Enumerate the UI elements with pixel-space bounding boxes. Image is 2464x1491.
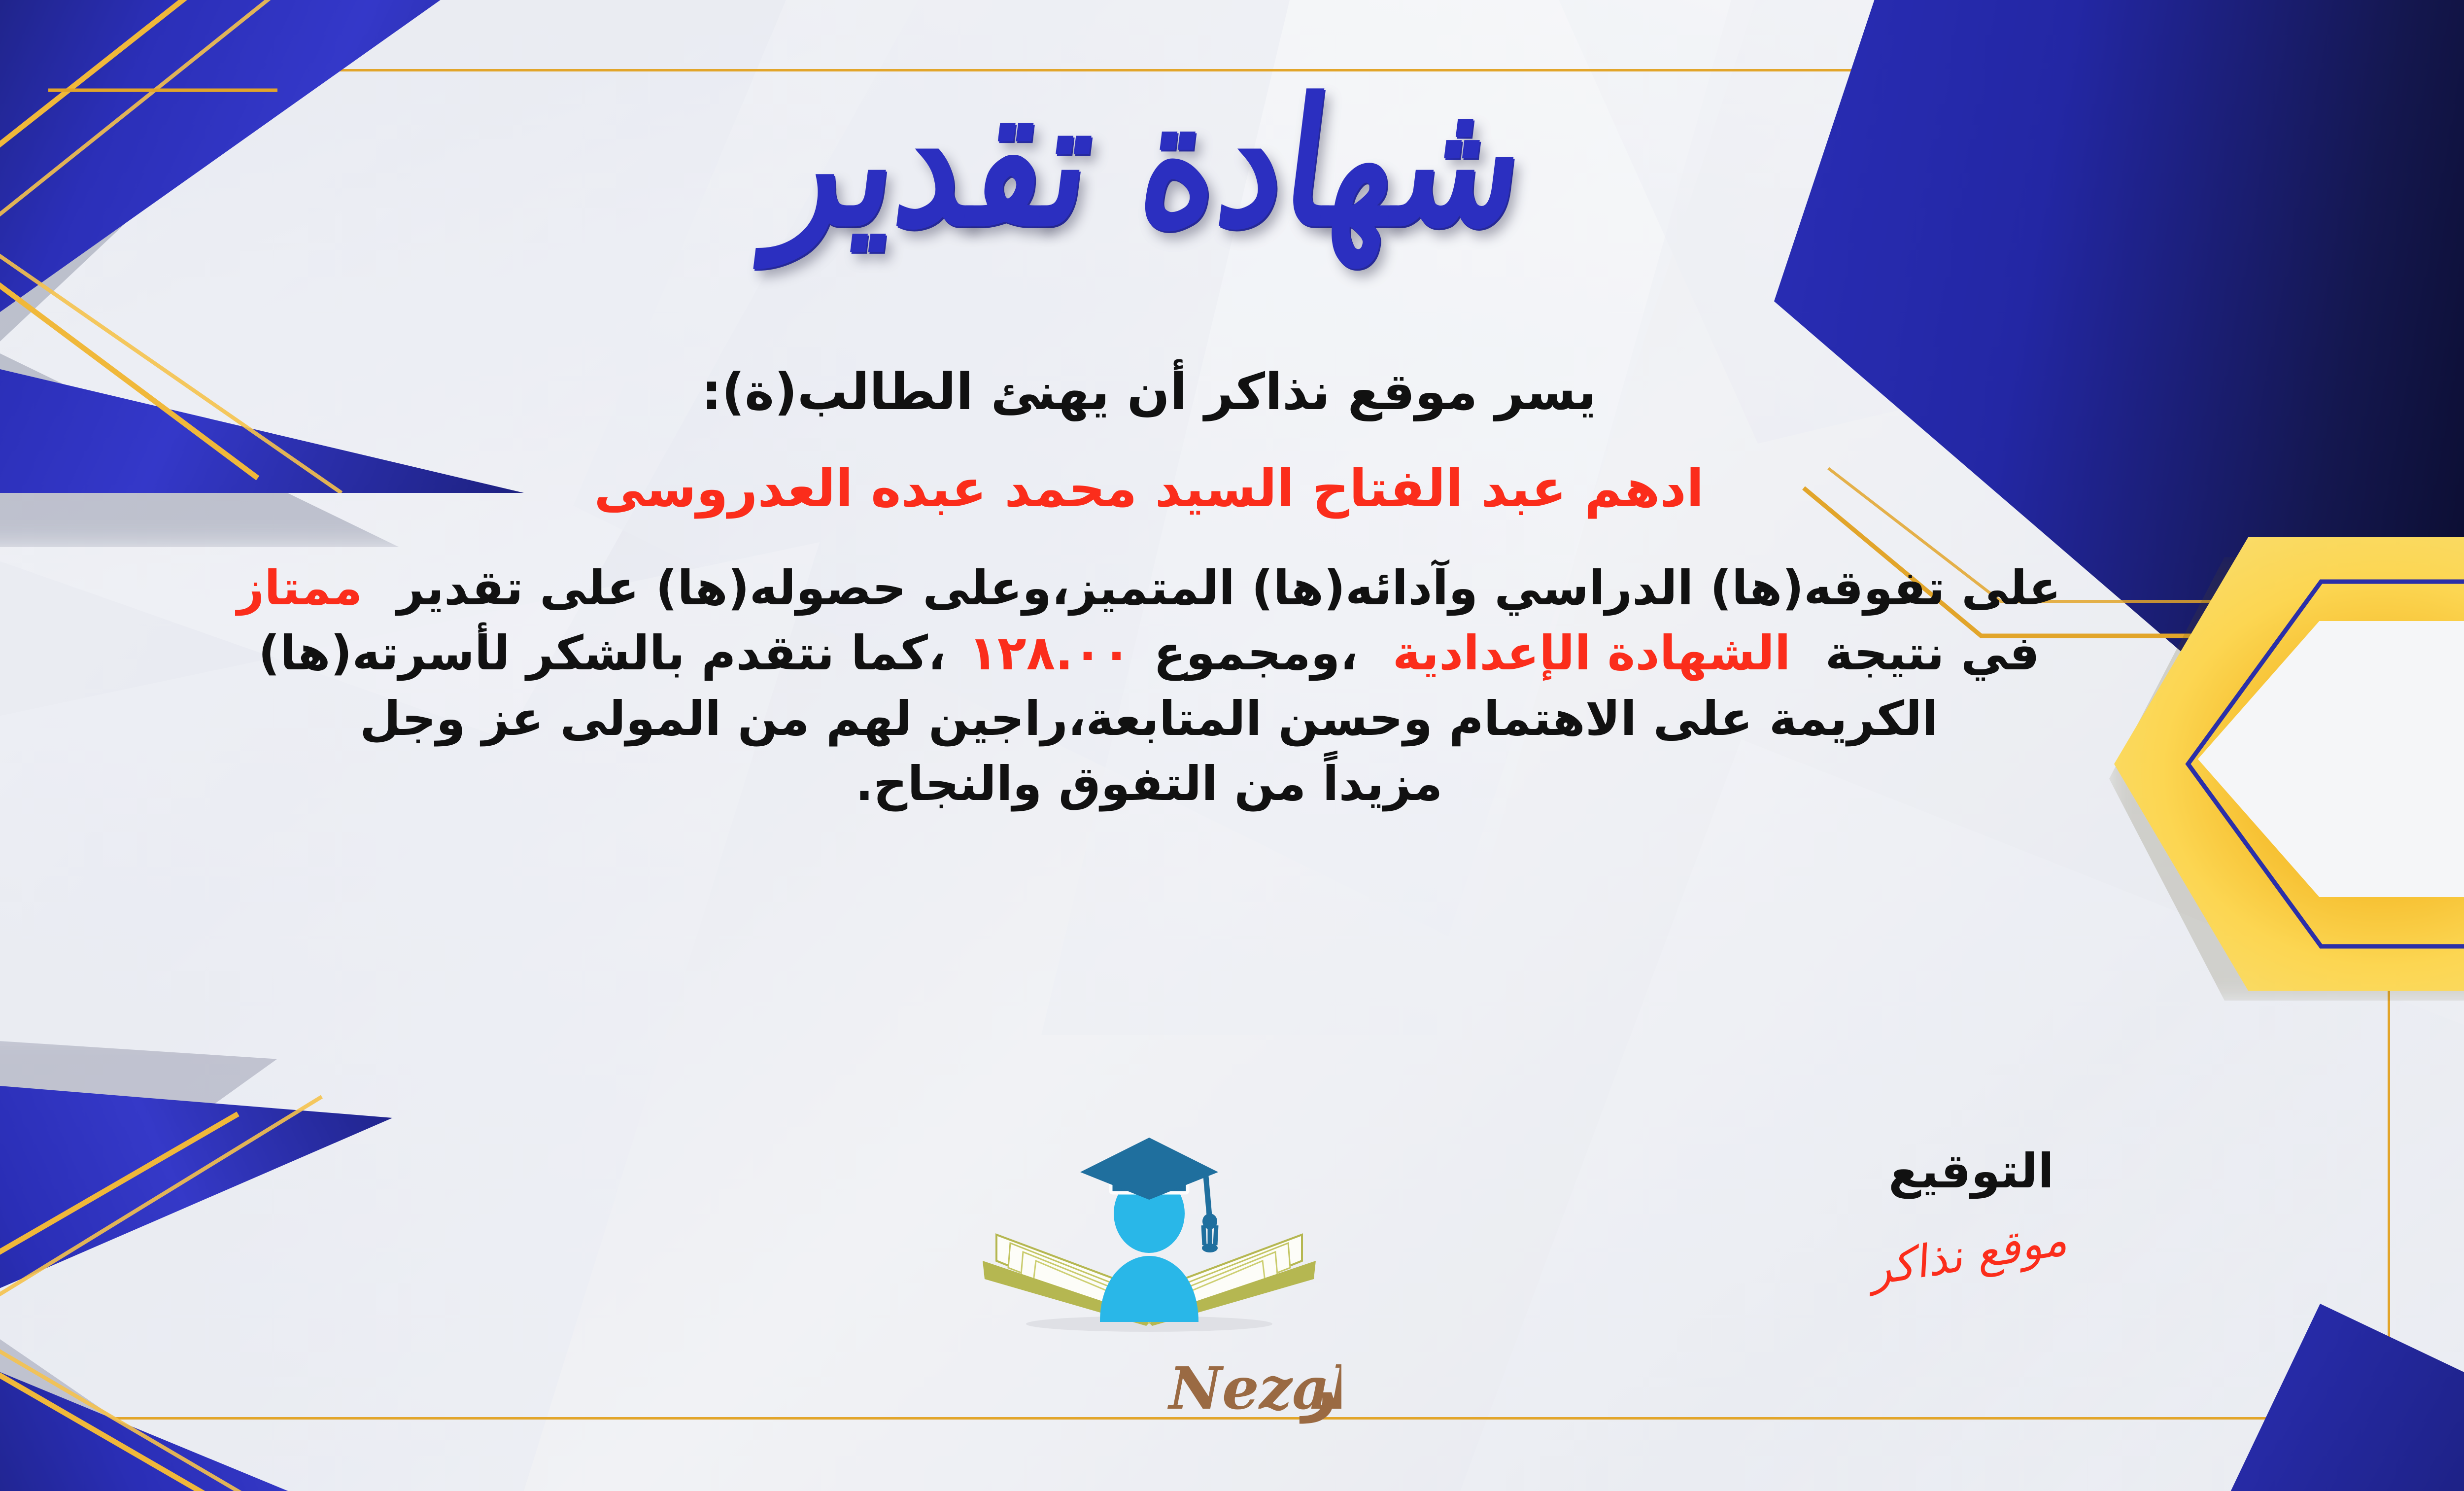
- brand-logo: نذاكر Nezakr: [957, 1129, 1341, 1434]
- student-figure-icon: [1100, 1256, 1198, 1322]
- certificate-canvas: شهادة تقدير يسر موقع نذاكر أن يهنئ الطال…: [0, 0, 2464, 1491]
- total-score: ١٢٨.٠٠: [968, 625, 1130, 681]
- certificate-body: يسر موقع نذاكر أن يهنئ الطالب(ة): ادهم ع…: [0, 365, 2301, 816]
- certificate-name: الشهادة الإعدادية: [1393, 625, 1791, 681]
- signature-label: التوقيع: [1818, 1144, 2124, 1199]
- student-name: ادهم عبد الفتاح السيد محمد عبده العدروسى: [0, 460, 2301, 517]
- citation-line-2c: ،كما نتقدم بالشكر لأسرته(ها): [258, 625, 946, 681]
- citation-paragraph: على تفوقه(ها) الدراسي وآدائه(ها) المتميز…: [0, 555, 2301, 817]
- logo-latin-text: Nezakr: [1167, 1354, 1341, 1422]
- citation-line-3: الكريمة على الاهتمام وحسن المتابعة،راجين…: [360, 691, 1938, 746]
- citation-line-2a: في نتيجة: [1825, 625, 2040, 681]
- signature-block: التوقيع موقع نذاكر: [1818, 1144, 2124, 1280]
- grade-value: ممتاز: [237, 560, 362, 616]
- greeting-line: يسر موقع نذاكر أن يهنئ الطالب(ة):: [0, 365, 2301, 420]
- citation-line-1: على تفوقه(ها) الدراسي وآدائه(ها) المتميز…: [397, 560, 2061, 616]
- citation-line-2b: ،ومجموع: [1154, 625, 1358, 681]
- gold-accent-line-bottom-left: [0, 1067, 425, 1491]
- citation-line-4: مزيداً من التفوق والنجاح.: [856, 756, 1443, 811]
